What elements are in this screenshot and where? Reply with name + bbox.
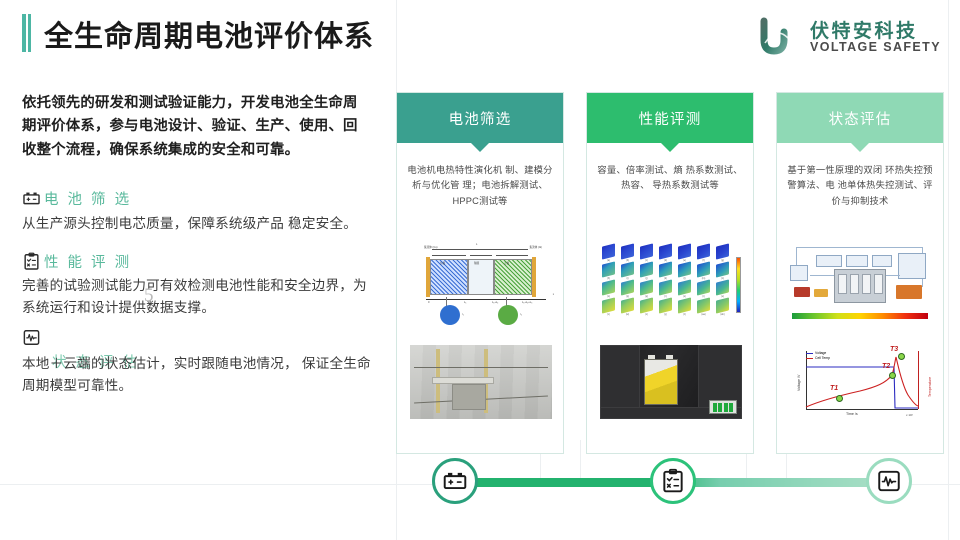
- feature-performance-evaluation: 性 能 评 测 完善的试验测试能力可有效检测电池性能和安全边界，为系统运行和设计…: [22, 250, 372, 318]
- thermal-cube: (v): [601, 299, 617, 314]
- thermal-cube: (j): [639, 263, 655, 278]
- thermal-cube: (f): [696, 245, 712, 260]
- feature-body: 完善的试验测试能力可有效检测电池性能和安全边界，为系统运行和设计提供数据支撑。: [22, 275, 372, 318]
- thermal-cube: (t): [696, 281, 712, 296]
- chart-legend: Voltage Cell Temp: [806, 351, 830, 361]
- feature-title: 性 能 评 测: [44, 251, 132, 272]
- annotation-point-t1: [836, 395, 843, 402]
- thermal-cube: (w): [620, 299, 636, 314]
- thermal-cube: (x): [639, 299, 655, 314]
- card-state-estimation[interactable]: 状态评估 基于第一性原理的双闭 环热失控预警算法、电 池单体热失控测试、评 价与…: [776, 92, 944, 454]
- clipboard-check-icon: [660, 468, 686, 494]
- battery-icon: [22, 189, 41, 208]
- page-title: 全生命周期电池评价体系: [44, 13, 374, 55]
- thermal-cube: (m): [696, 263, 712, 278]
- feature-body: 从生产源头控制电芯质量，保障系统级产品 稳定安全。: [22, 213, 372, 234]
- thermal-cube: (y): [658, 299, 674, 314]
- legend-voltage: Voltage: [815, 351, 826, 355]
- annotation-label-t3: T3: [890, 346, 898, 353]
- thermal-cube: (ab): [715, 299, 731, 314]
- colorbar: [736, 257, 741, 313]
- card-title: 状态评估: [829, 108, 892, 129]
- thermal-runaway-chart: Voltage Cell Temp T1 T2 T3 Time /s Volta…: [790, 345, 932, 419]
- card-header: 性能评测: [587, 93, 753, 143]
- thermal-cube: (h): [601, 263, 617, 278]
- timeline-node-evaluation[interactable]: [650, 458, 696, 504]
- thermal-cube: (r): [658, 281, 674, 296]
- annotation-point-t2: [889, 372, 896, 379]
- thermal-cube: (s): [677, 281, 693, 296]
- thermal-cube: (a): [601, 245, 617, 260]
- card-title: 性能评测: [639, 108, 702, 129]
- left-content-column: 依托领先的研发和测试验证能力，开发电池全生命周期评价体系，参与电池设计、验证、生…: [22, 92, 372, 396]
- thermal-cube: (i): [620, 263, 636, 278]
- annotation-point-t3: [898, 353, 905, 360]
- timeline-node-state[interactable]: [866, 458, 912, 504]
- feature-heading: 性 能 评 测: [22, 250, 372, 272]
- thermal-cube: (aa): [696, 299, 712, 314]
- cube-grid: (a)(b)(c)(d)(e)(f)(g)(h)(i)(j)(k)(l)(m)(…: [601, 245, 732, 314]
- card-description: 容量、倍率测试、熵 热系数测试、热容、 导热系数测试等: [597, 163, 743, 194]
- feature-title: 电 池 筛 选: [44, 188, 132, 209]
- card-battery-screening[interactable]: 电池筛选 电池机电热特性演化机 制、建模分析与优化管 理；电池拆解测试、 HPP…: [396, 92, 564, 454]
- system-architecture-diagram: [786, 241, 936, 329]
- page-header: 全生命周期电池评价体系 伏特安科技 VOLTAGE SAFETY: [0, 0, 960, 70]
- thermal-cube: (z): [677, 299, 693, 314]
- title-accent-bar: [22, 14, 31, 52]
- thermal-cube-label: (aa): [697, 313, 710, 316]
- card-description: 基于第一性原理的双闭 环热失控预警算法、电 池单体热失控测试、评 价与抑制技术: [787, 163, 933, 209]
- risk-gradient-bar: [792, 313, 928, 319]
- y2-axis-label: Temperature /℃: [928, 377, 932, 397]
- intro-paragraph: 依托领先的研发和测试验证能力，开发电池全生命周期评价体系，参与电池设计、验证、生…: [22, 92, 372, 162]
- lab-fixture-photo: [410, 345, 552, 419]
- thermal-cube: (q): [639, 281, 655, 296]
- waveform-icon: [876, 468, 902, 494]
- card-description: 电池机电热特性演化机 制、建模分析与优化管 理；电池拆解测试、 HPPC测试等: [407, 163, 553, 209]
- pouch-cell-test-photo: [600, 345, 742, 419]
- feature-state-estimation: 状 态 评 估 本地＋云端的状态估计，实时跟随电池情况， 保证全生命周期模型可靠…: [22, 328, 372, 396]
- clipboard-check-icon: [22, 252, 41, 271]
- card-header: 状态评估: [777, 93, 943, 143]
- thermal-cube: (n): [715, 263, 731, 278]
- annotation-label-t2: T2: [882, 363, 890, 370]
- timeline-node-battery[interactable]: [432, 458, 478, 504]
- thermal-cube-label: (y): [659, 313, 672, 316]
- thermal-cube: (p): [620, 281, 636, 296]
- battery-icon: [442, 468, 468, 494]
- thermal-cube-label: (x): [640, 313, 653, 316]
- icon-slot: [22, 328, 41, 347]
- x-exponent: x 10³: [906, 413, 913, 417]
- card-header: 电池筛选: [397, 93, 563, 143]
- thermal-cube: (d): [658, 245, 674, 260]
- diagram-core-unit: [834, 269, 886, 303]
- x-axis-label: Time /s: [846, 412, 858, 416]
- thermal-cube: (c): [639, 245, 655, 260]
- feature-heading: 状 态 评 估: [22, 328, 372, 350]
- cell-schematic-diagram: 集流体 (Cu) 集流体 (Al) L 负极 隔膜 正极 0 L₁ L₁+L₂ …: [406, 241, 556, 329]
- thermal-cube-label: (v): [602, 313, 615, 316]
- thermal-cube: (u): [715, 281, 731, 296]
- card-title: 电池筛选: [449, 108, 512, 129]
- logo-name-cn: 伏特安科技: [810, 16, 918, 43]
- feature-heading: 电 池 筛 选: [22, 188, 372, 210]
- feature-body: 本地＋云端的状态估计，实时跟随电池情况， 保证全生命周期模型可靠性。: [22, 353, 372, 396]
- stray-page-number: 5: [144, 285, 154, 307]
- status-indicator: [709, 400, 737, 414]
- thermal-cube-label: (ab): [716, 313, 729, 316]
- feature-battery-screening: 电 池 筛 选 从生产源头控制电芯质量，保障系统级产品 稳定安全。: [22, 188, 372, 234]
- company-logo: 伏特安科技 VOLTAGE SAFETY: [756, 14, 946, 62]
- voltage-wave-mark-icon: [758, 16, 804, 56]
- thermal-cube: (l): [677, 263, 693, 278]
- thermal-cube: (k): [658, 263, 674, 278]
- waveform-icon: [22, 328, 41, 347]
- legend-celltemp: Cell Temp: [815, 356, 830, 360]
- process-timeline: [396, 458, 948, 514]
- thermal-cube-grid-figure: (a)(b)(c)(d)(e)(f)(g)(h)(i)(j)(k)(l)(m)(…: [596, 241, 746, 329]
- y-axis-label: Voltage /V: [797, 375, 801, 391]
- thermal-cube: (b): [620, 245, 636, 260]
- thermal-cube-label: (w): [621, 313, 634, 316]
- annotation-label-t1: T1: [830, 385, 838, 392]
- thermal-cube: (o): [601, 281, 617, 296]
- thermal-cube-label: (z): [678, 313, 691, 316]
- thermal-cube: (g): [715, 245, 731, 260]
- card-performance-evaluation[interactable]: 性能评测 容量、倍率测试、熵 热系数测试、热容、 导热系数测试等 (a)(b)(…: [586, 92, 754, 454]
- thermal-cube: (e): [677, 245, 693, 260]
- logo-name-en: VOLTAGE SAFETY: [810, 40, 941, 54]
